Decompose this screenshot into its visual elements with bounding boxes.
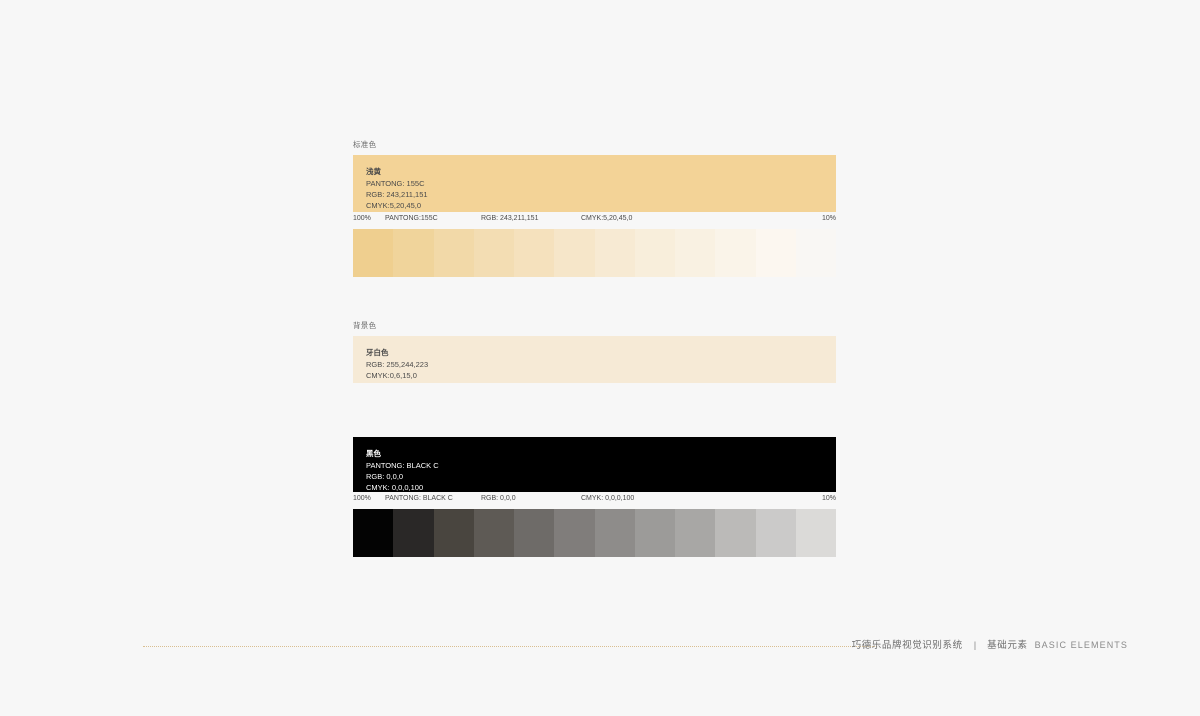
black-meta-cmyk: CMYK: 0,0,0,100 [581,492,634,506]
tint-swatch [715,229,755,277]
tint-swatch [434,509,474,557]
tint-swatch [514,509,554,557]
tint-swatch [393,229,433,277]
standard-color-tint-ramp [353,229,836,277]
tint-swatch [756,509,796,557]
tint-swatch [353,509,393,557]
tint-swatch [675,229,715,277]
footer-category-en: BASIC ELEMENTS [1035,640,1128,650]
standard-meta-start-percent: 100% [353,212,371,226]
standard-color-meta-row: 100% PANTONG:155C RGB: 243,211,151 CMYK:… [353,212,836,229]
section-background-color: 背景色 牙白色 RGB: 255,244,223 CMYK:0,6,15,0 [353,321,836,383]
tint-swatch [554,229,594,277]
standard-meta-pantone: PANTONG:155C [385,212,438,226]
tint-swatch [595,229,635,277]
standard-color-pantone: PANTONG: 155C [366,178,836,189]
brand-guideline-page: 标准色 浅黄 PANTONG: 155C RGB: 243,211,151 CM… [0,0,1200,716]
page-footer: 巧德乐品牌视觉识别系统 | 基础元素 BASIC ELEMENTS [0,637,1200,661]
black-meta-start-percent: 100% [353,492,371,506]
background-color-cmyk: CMYK:0,6,15,0 [366,370,836,381]
tint-swatch [635,229,675,277]
background-color-panel: 牙白色 RGB: 255,244,223 CMYK:0,6,15,0 [353,336,836,383]
standard-meta-rgb: RGB: 243,211,151 [481,212,538,226]
footer-caption: 巧德乐品牌视觉识别系统 | 基础元素 BASIC ELEMENTS [852,637,1128,651]
black-color-panel: 黑色 PANTONG: BLACK C RGB: 0,0,0 CMYK: 0,0… [353,437,836,492]
black-meta-end-percent: 10% [822,492,836,506]
tint-swatch [715,509,755,557]
tint-swatch [514,229,554,277]
footer-category-cn: 基础元素 [987,637,1027,651]
black-color-rgb: RGB: 0,0,0 [366,471,836,482]
standard-meta-end-percent: 10% [822,212,836,226]
black-color-pantone: PANTONG: BLACK C [366,460,836,471]
tint-swatch [796,229,836,277]
tint-swatch [675,509,715,557]
background-color-rgb: RGB: 255,244,223 [366,359,836,370]
tint-swatch [595,509,635,557]
standard-color-rgb: RGB: 243,211,151 [366,189,836,200]
black-color-tint-ramp [353,509,836,557]
standard-color-cmyk: CMYK:5,20,45,0 [366,200,836,211]
background-color-name: 牙白色 [366,347,836,358]
black-color-meta-row: 100% PANTONG: BLACK C RGB: 0,0,0 CMYK: 0… [353,492,836,509]
tint-swatch [393,509,433,557]
tint-swatch [554,509,594,557]
tint-swatch [474,229,514,277]
section-standard-color: 标准色 浅黄 PANTONG: 155C RGB: 243,211,151 CM… [353,140,836,277]
footer-dotted-rule [143,646,877,648]
black-color-name: 黑色 [366,448,836,459]
tint-swatch [635,509,675,557]
black-meta-rgb: RGB: 0,0,0 [481,492,516,506]
standard-color-name: 浅黄 [366,166,836,177]
tint-swatch [434,229,474,277]
footer-brand-name: 巧德乐品牌视觉识别系统 [852,637,963,651]
black-meta-pantone: PANTONG: BLACK C [385,492,453,506]
section-label-background-color: 背景色 [353,321,836,330]
tint-swatch [796,509,836,557]
section-label-standard-color: 标准色 [353,140,836,149]
section-black-color: 黑色 PANTONG: BLACK C RGB: 0,0,0 CMYK: 0,0… [353,437,836,557]
tint-swatch [474,509,514,557]
tint-swatch [756,229,796,277]
standard-color-panel: 浅黄 PANTONG: 155C RGB: 243,211,151 CMYK:5… [353,155,836,212]
standard-meta-cmyk: CMYK:5,20,45,0 [581,212,632,226]
footer-separator: | [974,640,976,651]
tint-swatch [353,229,393,277]
